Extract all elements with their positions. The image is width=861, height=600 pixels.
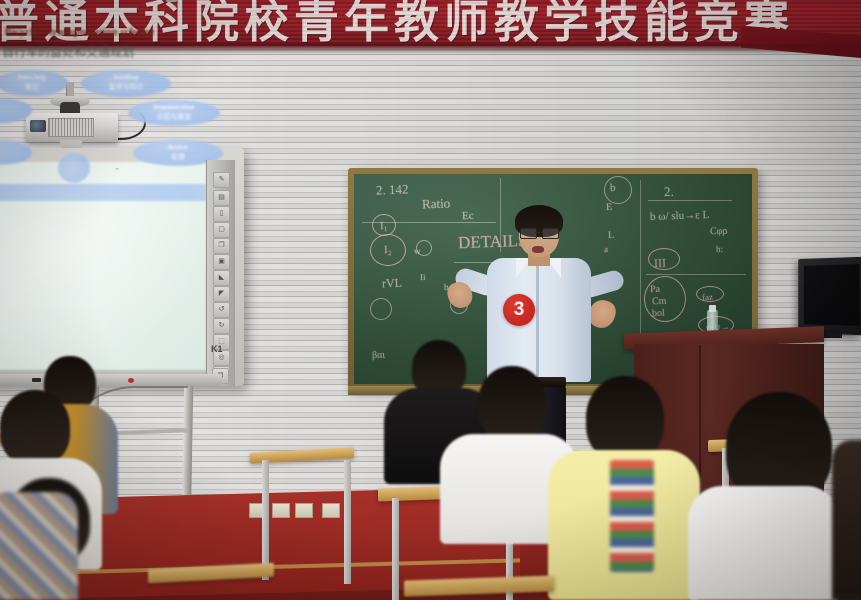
student-head — [478, 366, 546, 442]
contestant-number-badge: 3 — [503, 294, 535, 326]
chalk-note: Pa — [650, 284, 660, 295]
chalk-rule — [648, 200, 732, 201]
chalk-note: bol — [652, 308, 665, 319]
slide-title-english: o：Bicycle – transportation scheme — [0, 23, 218, 39]
slide-title-band — [0, 184, 206, 201]
chalk-circle — [370, 298, 392, 320]
eraser-icon[interactable]: ◤ — [213, 286, 230, 302]
student-far-right-partial — [832, 440, 861, 600]
slide-oval-center-bottom — [58, 153, 90, 183]
chalk-circle — [604, 176, 632, 204]
slide-oval-retelling: Retelling 复述与知识 — [81, 70, 171, 97]
glasses-icon — [520, 228, 558, 237]
chalk-note: Cφρ — [710, 226, 728, 238]
student-head — [0, 390, 70, 466]
classroom-photo: 普通本科院校青年教师教学技能竞赛 HiteVision o：Bicycle – … — [0, 0, 861, 600]
shapes-icon[interactable]: ◣ — [213, 270, 230, 286]
wall-outlet — [272, 503, 290, 518]
chalk-circle — [648, 248, 680, 270]
new-page-icon[interactable]: ▢ — [213, 222, 230, 238]
chalk-note: h: — [716, 244, 723, 254]
projector-vent — [48, 118, 94, 137]
chalk-rule — [362, 222, 496, 223]
chalk-note: b ω/ slu→ε L — [650, 209, 710, 223]
oval-label-cn: 复述与知识 — [81, 83, 171, 92]
pen-icon[interactable]: ✎ — [213, 172, 230, 188]
chalk-note: Ratio — [422, 196, 451, 213]
oval-label-cn: 笔记 — [0, 83, 68, 92]
wall-outlet — [322, 503, 340, 518]
oval-label-cn: 示范与重复 — [128, 113, 220, 122]
chalk-note: Ii — [420, 272, 426, 282]
glasses-lens-right — [542, 228, 559, 239]
slide-cursor-icon: ⌁ — [115, 165, 119, 173]
contestant-number: 3 — [503, 294, 535, 326]
pen-tray-indicator — [128, 378, 134, 383]
monitor-screen — [804, 264, 860, 326]
chalk-circle — [644, 276, 686, 322]
desk-leg — [344, 460, 351, 584]
chalk-note: faz — [702, 292, 713, 302]
projection-screen[interactable] — [0, 162, 206, 370]
chalk-circle — [416, 240, 432, 256]
student-front-left-plaid — [0, 492, 78, 600]
glasses-lens-left — [520, 228, 537, 239]
chalk-divider — [500, 178, 501, 252]
chalk-note: rVL — [382, 276, 403, 292]
chalk-note: 2. — [664, 184, 674, 200]
chalk-note: Cm — [652, 296, 667, 307]
chalk-note: III — [654, 256, 667, 271]
whiteboard-toolbar[interactable]: ✎ ▤ ▯ ▢ ❐ ▣ ◣ ◤ ↺ ↻ ⬚ ◎ ⌕ K1 — [206, 160, 235, 386]
chalk-note: w — [414, 246, 421, 256]
projector-lens — [30, 120, 46, 132]
chalk-note: E — [606, 202, 612, 213]
chalk-note: L — [608, 230, 614, 241]
slide-oval-demonstration: Demonstration 示范与重复 — [128, 100, 220, 126]
shirt-placket — [536, 262, 539, 380]
chalk-note: 2. 142 — [376, 181, 409, 198]
presenter-mouth — [532, 246, 544, 253]
chalk-note: I₂ — [384, 244, 392, 256]
chalk-note: βαι — [372, 350, 385, 361]
pen-tray-slot — [32, 378, 41, 382]
chalk-note: Ec — [462, 210, 474, 222]
wall-outlet — [295, 503, 313, 518]
student-right-white-tee — [688, 486, 840, 600]
chalk-note: DETAILS — [458, 231, 528, 253]
redo-icon[interactable]: ↻ — [213, 318, 230, 334]
chalk-circle — [372, 214, 396, 236]
desk-leg — [392, 498, 399, 600]
chalk-note: a — [604, 244, 608, 254]
whiteboard-top-hook — [166, 0, 177, 2]
chalk-note: I₁ — [380, 220, 388, 232]
monitor-stand — [822, 330, 842, 338]
paste-icon[interactable]: ▣ — [213, 254, 230, 270]
copy-icon[interactable]: ❐ — [213, 238, 230, 254]
glasses-bridge — [535, 232, 542, 233]
slide-title-chinese: ：自行车的益处和交通规划 — [0, 43, 220, 60]
chalk-circle — [696, 286, 724, 302]
chalk-rule — [646, 274, 746, 275]
page-icon[interactable]: ▯ — [213, 206, 230, 222]
save-icon[interactable]: ▤ — [213, 190, 230, 206]
chalk-circle — [370, 234, 406, 266]
whiteboard-model-label: K1 — [211, 344, 223, 354]
tee-graphic-print — [610, 460, 654, 572]
undo-icon[interactable]: ↺ — [213, 302, 230, 318]
chalk-note: b — [610, 182, 616, 194]
